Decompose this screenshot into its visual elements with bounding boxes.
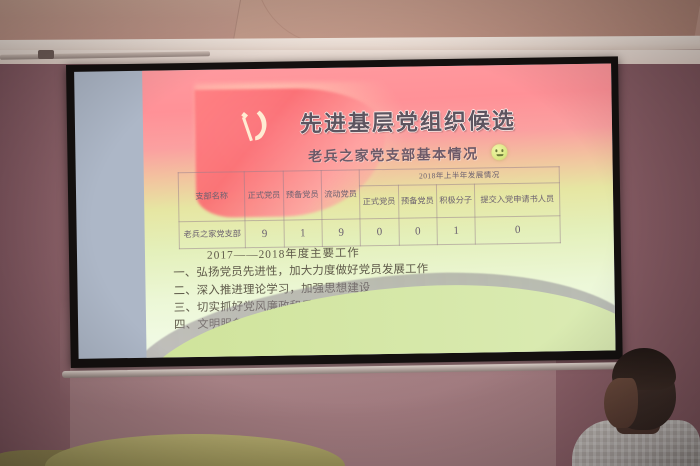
subheader-probationary-member: 预备党员 <box>398 185 437 219</box>
subheader-full-member: 正式党员 <box>360 185 399 219</box>
cell-value-5: 1 <box>437 217 476 245</box>
header-branch-name: 支部名称 <box>178 172 245 222</box>
cell-value-3: 0 <box>360 218 399 246</box>
rail-bracket <box>38 50 54 59</box>
party-branch-table: 支部名称 正式党员 预备党员 流动党员 2018年上半年发展情况 正式党员 预备… <box>178 166 561 249</box>
header-floating-member: 流动党员 <box>321 170 360 220</box>
subheader-activist: 积极分子 <box>436 184 475 218</box>
header-full-member: 正式党员 <box>244 171 283 221</box>
cell-value-4: 0 <box>398 218 437 246</box>
cell-value-1: 1 <box>283 220 322 248</box>
cell-value-6: 0 <box>475 216 560 244</box>
subheader-applicant: 提交入党申请书人员 <box>475 183 560 217</box>
projection-screen: 先进基层党组织候选 老兵之家党支部基本情况 支部名称 正式党员 预备党员 流动党… <box>66 56 623 368</box>
header-probationary-member: 预备党员 <box>283 171 322 221</box>
room-photo-scene: 先进基层党组织候选 老兵之家党支部基本情况 支部名称 正式党员 预备党员 流动党… <box>0 0 700 466</box>
cell-value-2: 9 <box>322 219 361 247</box>
attendee-face <box>604 378 638 428</box>
cell-value-0: 9 <box>245 220 284 248</box>
projected-slide: 先进基层党组织候选 老兵之家党支部基本情况 支部名称 正式党员 预备党员 流动党… <box>142 63 615 357</box>
screen-surface: 先进基层党组织候选 老兵之家党支部基本情况 支部名称 正式党员 预备党员 流动党… <box>74 63 615 358</box>
slide-title: 先进基层党组织候选 <box>243 102 573 139</box>
cell-branch-name: 老兵之家党支部 <box>179 221 246 249</box>
